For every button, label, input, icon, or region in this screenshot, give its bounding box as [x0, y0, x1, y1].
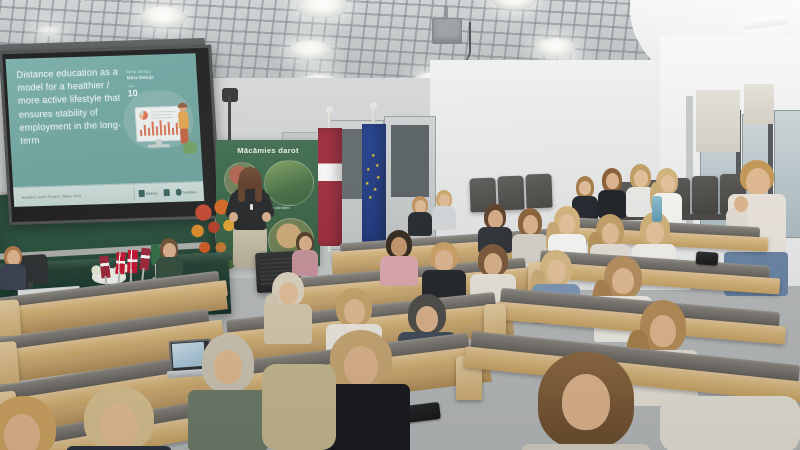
head [163, 243, 176, 258]
head [299, 236, 312, 251]
torso [408, 212, 432, 236]
torso [188, 390, 268, 450]
head [4, 414, 40, 450]
head [7, 250, 20, 265]
desk-flag-denmark [113, 252, 126, 279]
torso [522, 444, 650, 450]
banner-title: Mācāmies darot [216, 146, 320, 155]
flag-finial-icon [370, 102, 377, 109]
window-frame-post [686, 96, 693, 244]
flag-finial-icon [326, 106, 333, 113]
auditorium-chair[interactable] [692, 176, 718, 214]
head [606, 173, 619, 189]
head [579, 181, 591, 195]
illustration-text-line [151, 117, 173, 119]
illustration-person-body [178, 111, 189, 129]
head [746, 168, 770, 196]
ceiling-light [36, 26, 62, 37]
head [650, 315, 676, 347]
ceiling-light [534, 38, 576, 57]
illustration-person-hair [177, 102, 187, 107]
auditorium-chair[interactable] [525, 174, 552, 209]
illustration-donut-chart [139, 111, 149, 120]
desk-end-panel [0, 299, 21, 337]
slide-kicker: Mirta Metuļa [127, 75, 154, 81]
ceiling-light [288, 40, 332, 60]
door-glass [391, 125, 429, 197]
head [279, 282, 298, 305]
laptop-display [172, 342, 206, 368]
head [488, 210, 503, 228]
torso [292, 250, 318, 276]
eu-flag: ★ ★ ★ ★ ★ ★ ★ [362, 124, 386, 244]
head [100, 404, 138, 448]
illustration-text-line [151, 114, 171, 116]
presenter-left-hand [229, 212, 238, 222]
latvia-flag [318, 128, 342, 246]
illustration-plant [182, 131, 197, 153]
head [634, 170, 648, 187]
torso [262, 364, 336, 450]
torso [264, 304, 312, 344]
desk-flag-cloth [127, 250, 138, 273]
head [344, 299, 365, 324]
ceiling-light [140, 6, 186, 28]
logo-mark-icon [138, 190, 144, 197]
slide-title: Distance education as a model for a heal… [16, 66, 126, 148]
torso [380, 256, 418, 286]
torso [66, 446, 172, 450]
head [523, 215, 538, 234]
slide-illustration: Mirta Metuļa Mirta Metuļa Slide 10 [118, 67, 197, 161]
hand [734, 196, 748, 212]
torso [0, 264, 26, 290]
window-blind [696, 90, 740, 152]
lapel-microphone [250, 204, 253, 210]
slide-footer-text: Nordplus Junior Project | Riga | 2023 [14, 192, 130, 200]
projection-screen: Distance education as a model for a heal… [0, 45, 215, 219]
water-bottle[interactable] [652, 196, 662, 222]
head [214, 350, 242, 384]
partner-logo-3: Nordplus [175, 188, 196, 196]
partner-logo-3-label: Nordplus [183, 190, 197, 194]
logo-mark-icon [163, 189, 169, 196]
partner-logo-1: Ministry [138, 189, 158, 197]
slide-speaker-name: Mirta Metuļa [126, 69, 151, 75]
desk-flag-denmark-2 [125, 250, 137, 276]
head [484, 253, 502, 275]
window-blind [744, 84, 774, 124]
presenter-right-hand [262, 212, 271, 222]
head [435, 250, 453, 271]
presenter-hair [239, 167, 261, 189]
auditorium-chair[interactable] [497, 176, 524, 211]
presentation-slide: Distance education as a model for a heal… [6, 53, 205, 207]
partner-logo-1-label: Ministry [146, 191, 158, 195]
lecture-hall-photo: Distance education as a model for a heal… [0, 0, 800, 450]
head [612, 268, 634, 294]
smartphone[interactable] [696, 251, 719, 266]
illustration-text-line [151, 111, 175, 113]
logo-mark-icon [175, 189, 181, 196]
head [344, 346, 378, 386]
head [547, 260, 566, 283]
footer-divider [133, 187, 135, 200]
head [646, 222, 664, 244]
head [391, 237, 407, 256]
head [661, 175, 675, 192]
torso [432, 206, 456, 230]
head [562, 374, 610, 430]
partner-logo-2 [163, 189, 169, 196]
illustration-bar-chart [140, 122, 179, 138]
torso [660, 396, 800, 450]
head [602, 223, 619, 244]
head [559, 214, 575, 234]
head [416, 306, 438, 332]
